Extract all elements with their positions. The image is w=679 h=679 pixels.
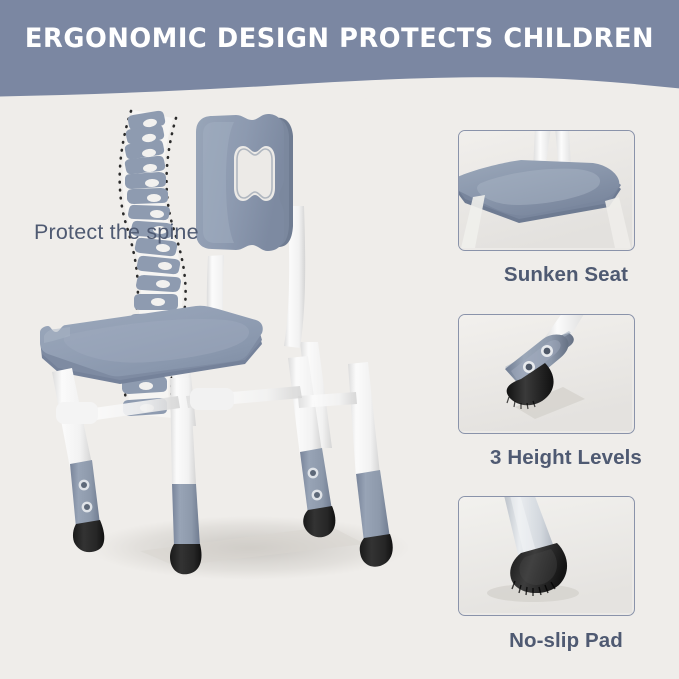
rubber-foot-closeup-photo	[459, 497, 632, 613]
sunken-seat-caption: Sunken Seat	[453, 263, 679, 287]
feature-panel-no-slip-pad[interactable]: No-slip Pad	[453, 496, 679, 653]
protect-the-spine-label: Protect the spine	[34, 220, 199, 245]
chair-seat	[40, 306, 263, 384]
leg-sleeve	[300, 448, 332, 514]
height-levels-caption: 3 Height Levels	[453, 446, 679, 470]
chair-illustration	[0, 96, 450, 679]
no-slip-pad-image-frame	[458, 496, 635, 616]
seat-closeup-photo	[459, 131, 632, 248]
page-title: ERGONOMIC DESIGN PROTECTS CHILDREN	[17, 22, 662, 56]
leg-sleeve	[70, 460, 100, 528]
infographic-page: ERGONOMIC DESIGN PROTECTS CHILDREN	[0, 0, 679, 679]
height-levels-image-frame	[458, 314, 635, 434]
feature-panels: Sunken Seat	[453, 130, 679, 653]
feature-panel-height-levels[interactable]: 3 Height Levels	[453, 314, 679, 470]
leg-front-left	[52, 368, 104, 552]
chair-backrest	[196, 114, 293, 251]
feature-panel-sunken-seat[interactable]: Sunken Seat	[453, 130, 679, 287]
main-product-scene: Protect the spine	[0, 96, 450, 679]
sunken-seat-image-frame	[458, 130, 635, 251]
leg-sleeve	[172, 484, 200, 546]
leg-adjustment-closeup-photo	[459, 315, 632, 431]
no-slip-pad-caption: No-slip Pad	[453, 629, 679, 653]
header-band: ERGONOMIC DESIGN PROTECTS CHILDREN	[0, 0, 679, 100]
no-slip-foot	[73, 520, 104, 552]
